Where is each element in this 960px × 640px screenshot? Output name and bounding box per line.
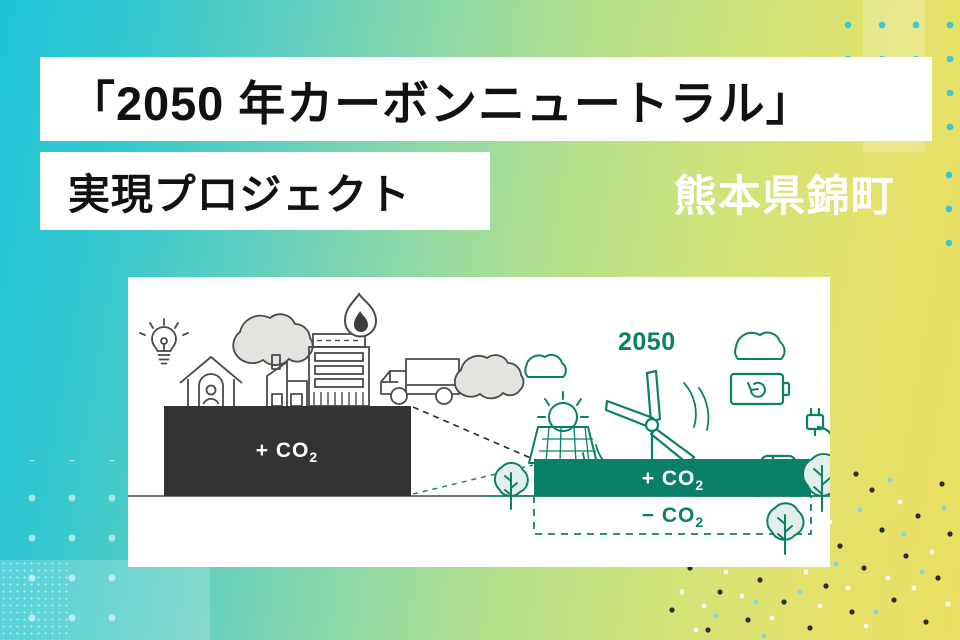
sun-icon — [538, 392, 588, 431]
zoom-connector-top — [413, 407, 533, 459]
smoke-cloud-icon — [455, 355, 524, 398]
top-right-dot-field-lower — [926, 150, 960, 260]
cloud-icon — [735, 333, 785, 359]
minus-co2-subscript: 2 — [695, 514, 704, 530]
cloud-icon — [525, 355, 566, 377]
office-building-icon — [309, 334, 369, 406]
smoke-cloud-icon — [233, 314, 312, 365]
co2-neutral-diagram: + CO2 2050 — [128, 277, 830, 567]
bottom-left-dot-field — [0, 460, 140, 640]
teal-block-plus-co2-label: + CO2 — [642, 467, 704, 493]
tree-icon — [803, 454, 830, 511]
illustration-panel: + CO2 2050 — [128, 277, 830, 567]
poster-canvas: 「2050 年カーボンニュートラル」 実現プロジェクト 熊本県錦町 — [0, 0, 960, 640]
tree-icon — [767, 503, 803, 554]
flame-icon — [345, 294, 376, 337]
lightbulb-icon — [140, 319, 188, 364]
minus-co2-text: − CO — [642, 504, 696, 527]
year-2050-label: 2050 — [618, 328, 676, 356]
dark-block-co2-subscript: 2 — [309, 449, 318, 465]
teal-block-plus-co2-subscript: 2 — [695, 477, 704, 493]
teal-block-plus-co2-text: + CO — [642, 467, 696, 490]
tree-icon — [495, 463, 528, 509]
page-title-sub: 実現プロジェクト — [40, 152, 490, 230]
house-icon — [180, 357, 242, 406]
page-title-main: 「2050 年カーボンニュートラル」 — [40, 57, 932, 141]
page-title-sub-text: 実現プロジェクト — [68, 161, 411, 222]
truck-icon — [381, 359, 459, 404]
region-label: 熊本県錦町 — [674, 162, 895, 224]
dark-block-co2-label: + CO2 — [256, 439, 318, 465]
page-title-main-text: 「2050 年カーボンニュートラル」 — [68, 65, 814, 134]
battery-recycle-icon — [731, 374, 789, 404]
minus-co2-label: − CO2 — [642, 504, 704, 530]
dark-block-co2-text: + CO — [256, 439, 310, 462]
